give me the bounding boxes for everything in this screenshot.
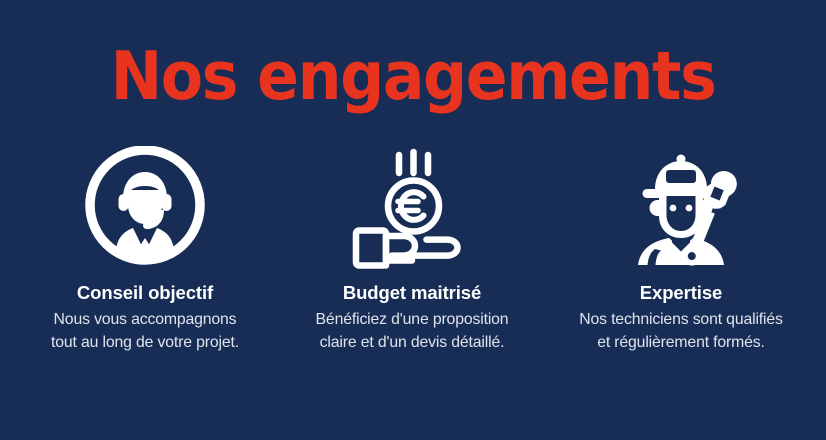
engagement-item-expertise: Expertise Nos techniciens sont qualifiés… (544, 140, 819, 354)
hand-holding-euro-coin-icon (346, 140, 478, 280)
technician-with-wrench-icon (617, 140, 745, 280)
engagement-title: Expertise (640, 282, 722, 304)
engagement-title: Conseil objectif (77, 282, 213, 304)
engagements-slide: Nos engagements (0, 0, 826, 440)
engagement-description-line-2: claire et d'un devis détaillé. (316, 331, 509, 354)
page-title: Nos engagements (33, 38, 793, 114)
engagement-title: Budget maitrisé (343, 282, 481, 304)
engagement-description-line-1: Nous vous accompagnons (51, 308, 239, 331)
engagement-description-line-2: et régulièrement formés. (579, 331, 783, 354)
engagement-description: Nous vous accompagnons tout au long de v… (51, 308, 239, 354)
engagement-description-line-1: Nos techniciens sont qualifiés (579, 308, 783, 331)
engagement-description: Bénéficiez d'une proposition claire et d… (316, 308, 509, 354)
engagement-item-conseil: Conseil objectif Nous vous accompagnons … (8, 140, 283, 354)
engagements-columns: Conseil objectif Nous vous accompagnons … (0, 140, 826, 354)
headset-support-agent-icon (81, 140, 209, 280)
engagement-description-line-1: Bénéficiez d'une proposition (316, 308, 509, 331)
engagement-item-budget: Budget maitrisé Bénéficiez d'une proposi… (275, 140, 550, 354)
engagement-description-line-2: tout au long de votre projet. (51, 331, 239, 354)
engagement-description: Nos techniciens sont qualifiés et réguli… (579, 308, 783, 354)
